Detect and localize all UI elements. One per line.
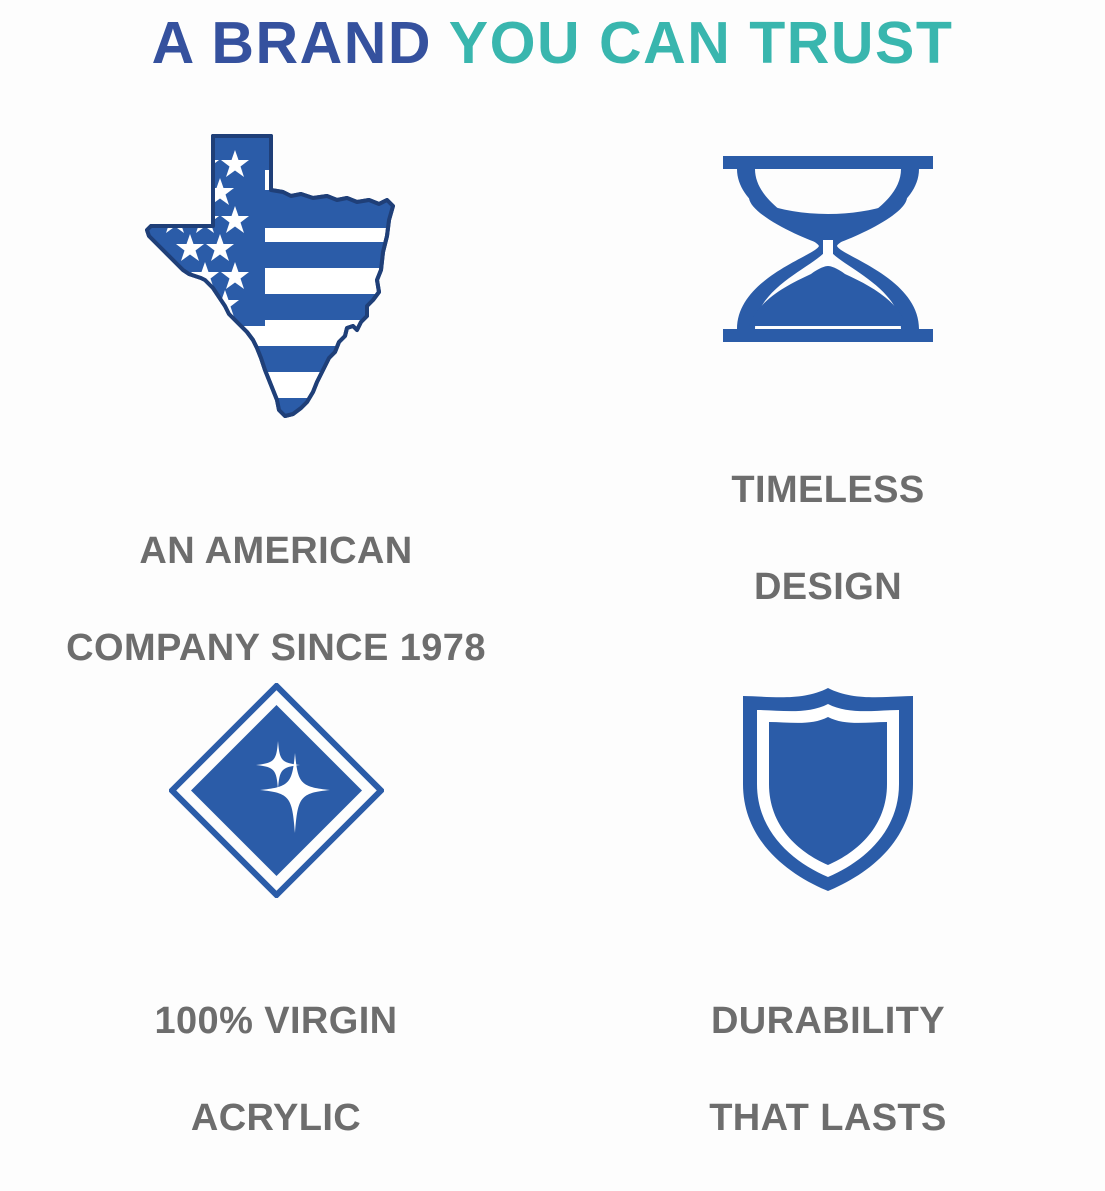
caption-line-1: DURABILITY (709, 997, 947, 1046)
brand-trust-infographic: A BRAND YOU CAN TRUST (0, 0, 1105, 1191)
caption-line-2: THAT LASTS (709, 1094, 947, 1143)
caption-line-1: AN AMERICAN (66, 527, 486, 576)
headline: A BRAND YOU CAN TRUST (152, 14, 954, 73)
feature-cell-virgin-acrylic: 100% VIRGIN ACRYLIC (0, 660, 552, 1191)
feature-cell-american-company: AN AMERICAN COMPANY SINCE 1978 (0, 130, 552, 660)
feature-cell-timeless-design: TIMELESS DESIGN (552, 130, 1104, 660)
page-title: A BRAND YOU CAN TRUST (0, 0, 1105, 86)
caption-line-1: 100% VIRGIN (154, 997, 397, 1046)
feature-grid: AN AMERICAN COMPANY SINCE 1978 (0, 130, 1105, 1191)
texas-american-flag-icon-wrap (0, 130, 552, 430)
feature-caption: DURABILITY THAT LASTS (709, 948, 947, 1191)
caption-line-2: ACRYLIC (154, 1094, 397, 1143)
headline-part-two: YOU CAN TRUST (449, 10, 954, 76)
hourglass-icon (719, 154, 937, 344)
feature-caption: TIMELESS DESIGN (731, 417, 924, 660)
feature-cell-durability: DURABILITY THAT LASTS (552, 660, 1104, 1191)
headline-part-one: A BRAND (152, 10, 449, 76)
caption-line-1: TIMELESS (731, 466, 924, 515)
texas-american-flag-icon (131, 130, 421, 430)
feature-caption: 100% VIRGIN ACRYLIC (154, 948, 397, 1191)
diamond-sparkle-icon-wrap (0, 660, 552, 922)
hourglass-icon-wrap (552, 130, 1104, 369)
shield-icon-wrap (552, 660, 1104, 922)
caption-line-2: DESIGN (731, 563, 924, 612)
diamond-sparkle-icon (169, 683, 384, 898)
shield-icon (739, 688, 917, 893)
